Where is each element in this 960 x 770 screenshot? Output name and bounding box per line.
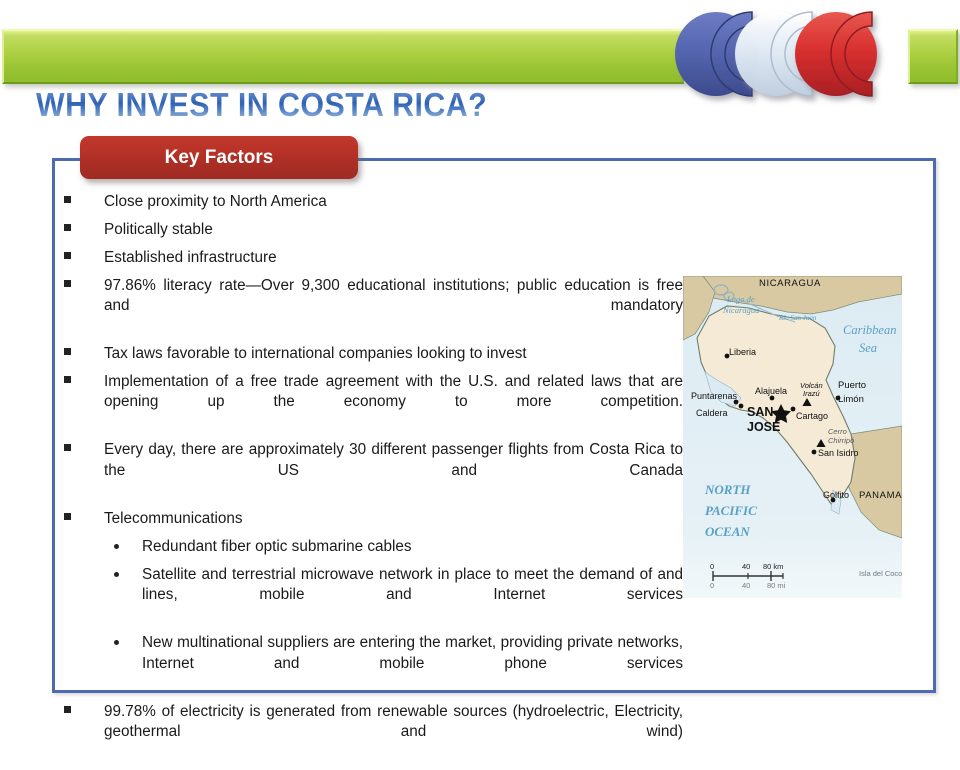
map-scale-km-80: 80 km	[763, 562, 783, 571]
square-bullet-icon	[64, 444, 71, 451]
square-bullet-icon	[64, 348, 71, 355]
map-label-golfito: Golfito	[823, 490, 849, 500]
map-scale-mi-0: 0	[710, 581, 714, 590]
map-label-pacific: PACIFIC	[705, 503, 757, 518]
list-item: Every day, there are approximately 30 di…	[58, 440, 683, 501]
banner-bar-left	[2, 29, 684, 84]
list-item-text: Implementation of a free trade agreement…	[104, 372, 683, 433]
list-item: 97.86% literacy rate—Over 9,300 educatio…	[58, 276, 683, 337]
list-item: Implementation of a free trade agreement…	[58, 372, 683, 433]
map-label-chirripo: Chirripó	[828, 436, 854, 445]
map-label-north: NORTH	[704, 482, 751, 497]
map-label-san: SAN	[747, 405, 773, 419]
map-label-cartago: Cartago	[796, 411, 828, 421]
map-label-san-isidro: San Isidro	[818, 448, 859, 458]
sub-list-item: Satellite and terrestrial microwave netw…	[104, 565, 683, 626]
map-scale-km-40: 40	[742, 562, 750, 571]
page-title: WHY INVEST IN COSTA RICA?	[36, 86, 487, 124]
list-item-text: Every day, there are approximately 30 di…	[104, 440, 683, 501]
square-bullet-icon	[64, 706, 71, 713]
map-label-cerro: Cerro	[828, 427, 847, 436]
map-label-caribbean: Caribbean	[843, 323, 896, 337]
square-bullet-icon	[64, 280, 71, 287]
list-item: 99.78% of electricity is generated from …	[58, 702, 683, 763]
square-bullet-icon	[64, 513, 71, 520]
map-label-lago-de: Lago de	[726, 294, 755, 304]
dot-bullet-icon	[114, 572, 119, 577]
map-label-liberia: Liberia	[729, 347, 756, 357]
map-scale-mi-40: 40	[742, 581, 750, 590]
key-factors-list: Close proximity to North America Politic…	[58, 192, 683, 770]
telecommunications-sublist: Redundant fiber optic submarine cables S…	[104, 537, 683, 694]
list-item-text: 97.86% literacy rate—Over 9,300 educatio…	[104, 276, 683, 337]
list-item-text: 99.78% of electricity is generated from …	[104, 702, 683, 763]
list-item: Tax laws favorable to international comp…	[58, 344, 683, 364]
list-item: Established infrastructure	[58, 248, 683, 268]
map-label-puntarenas: Puntarenas	[691, 391, 738, 401]
list-item: Close proximity to North America	[58, 192, 683, 212]
cdc-logo	[668, 2, 916, 106]
sub-list-item: Redundant fiber optic submarine cables	[104, 537, 683, 557]
square-bullet-icon	[64, 224, 71, 231]
list-item-text: Tax laws favorable to international comp…	[104, 345, 527, 362]
square-bullet-icon	[64, 376, 71, 383]
map-city-dot-alajuela	[770, 396, 775, 401]
dot-bullet-icon	[114, 544, 119, 549]
map-label-alajuela: Alajuela	[755, 386, 787, 396]
map-scale-mi-80: 80 mi	[767, 581, 786, 590]
list-item-text: Telecommunications	[104, 510, 243, 527]
map-city-dot-san-isidro	[812, 450, 817, 455]
map-label-rio-san-juan: Río San Juan	[778, 314, 817, 322]
map-label-nicaragua-lake: Nicaragua	[722, 305, 759, 315]
list-item-text: Politically stable	[104, 221, 213, 238]
map-label-irazu: Irazú	[803, 389, 821, 398]
list-item: Politically stable	[58, 220, 683, 240]
map-label-limon: Limón	[838, 394, 864, 405]
sub-list-item-text: Redundant fiber optic submarine cables	[142, 538, 412, 555]
logo-letter-c-red	[795, 12, 877, 96]
sub-list-item-text: New multinational suppliers are entering…	[142, 633, 683, 694]
map-scale-km-0: 0	[710, 562, 714, 571]
key-factors-label: Key Factors	[165, 147, 274, 169]
costa-rica-map: NICARAGUA PANAMA Liberia Puntarenas Cald…	[683, 276, 902, 598]
map-label-puerto: Puerto	[838, 380, 866, 391]
map-label-nicaragua: NICARAGUA	[759, 278, 821, 289]
square-bullet-icon	[64, 252, 71, 259]
map-label-jose: JOSÉ	[747, 419, 780, 434]
map-label-caldera: Caldera	[696, 408, 728, 418]
sub-list-item-text: Satellite and terrestrial microwave netw…	[142, 565, 683, 626]
map-label-sea: Sea	[859, 341, 877, 355]
sub-list-item: New multinational suppliers are entering…	[104, 633, 683, 694]
map-note-isla-del-coco: Isla del Coco	[859, 569, 902, 578]
map-city-dot-caldera	[739, 404, 744, 409]
key-factors-tab[interactable]: Key Factors	[80, 136, 358, 179]
map-city-dot-cartago	[791, 407, 796, 412]
map-label-panama: PANAMA	[859, 490, 902, 501]
square-bullet-icon	[64, 196, 71, 203]
map-label-ocean: OCEAN	[705, 524, 750, 539]
dot-bullet-icon	[114, 640, 119, 645]
list-item-text: Established infrastructure	[104, 249, 277, 266]
list-item-text: Close proximity to North America	[104, 193, 327, 210]
list-item: Telecommunications	[58, 509, 683, 529]
